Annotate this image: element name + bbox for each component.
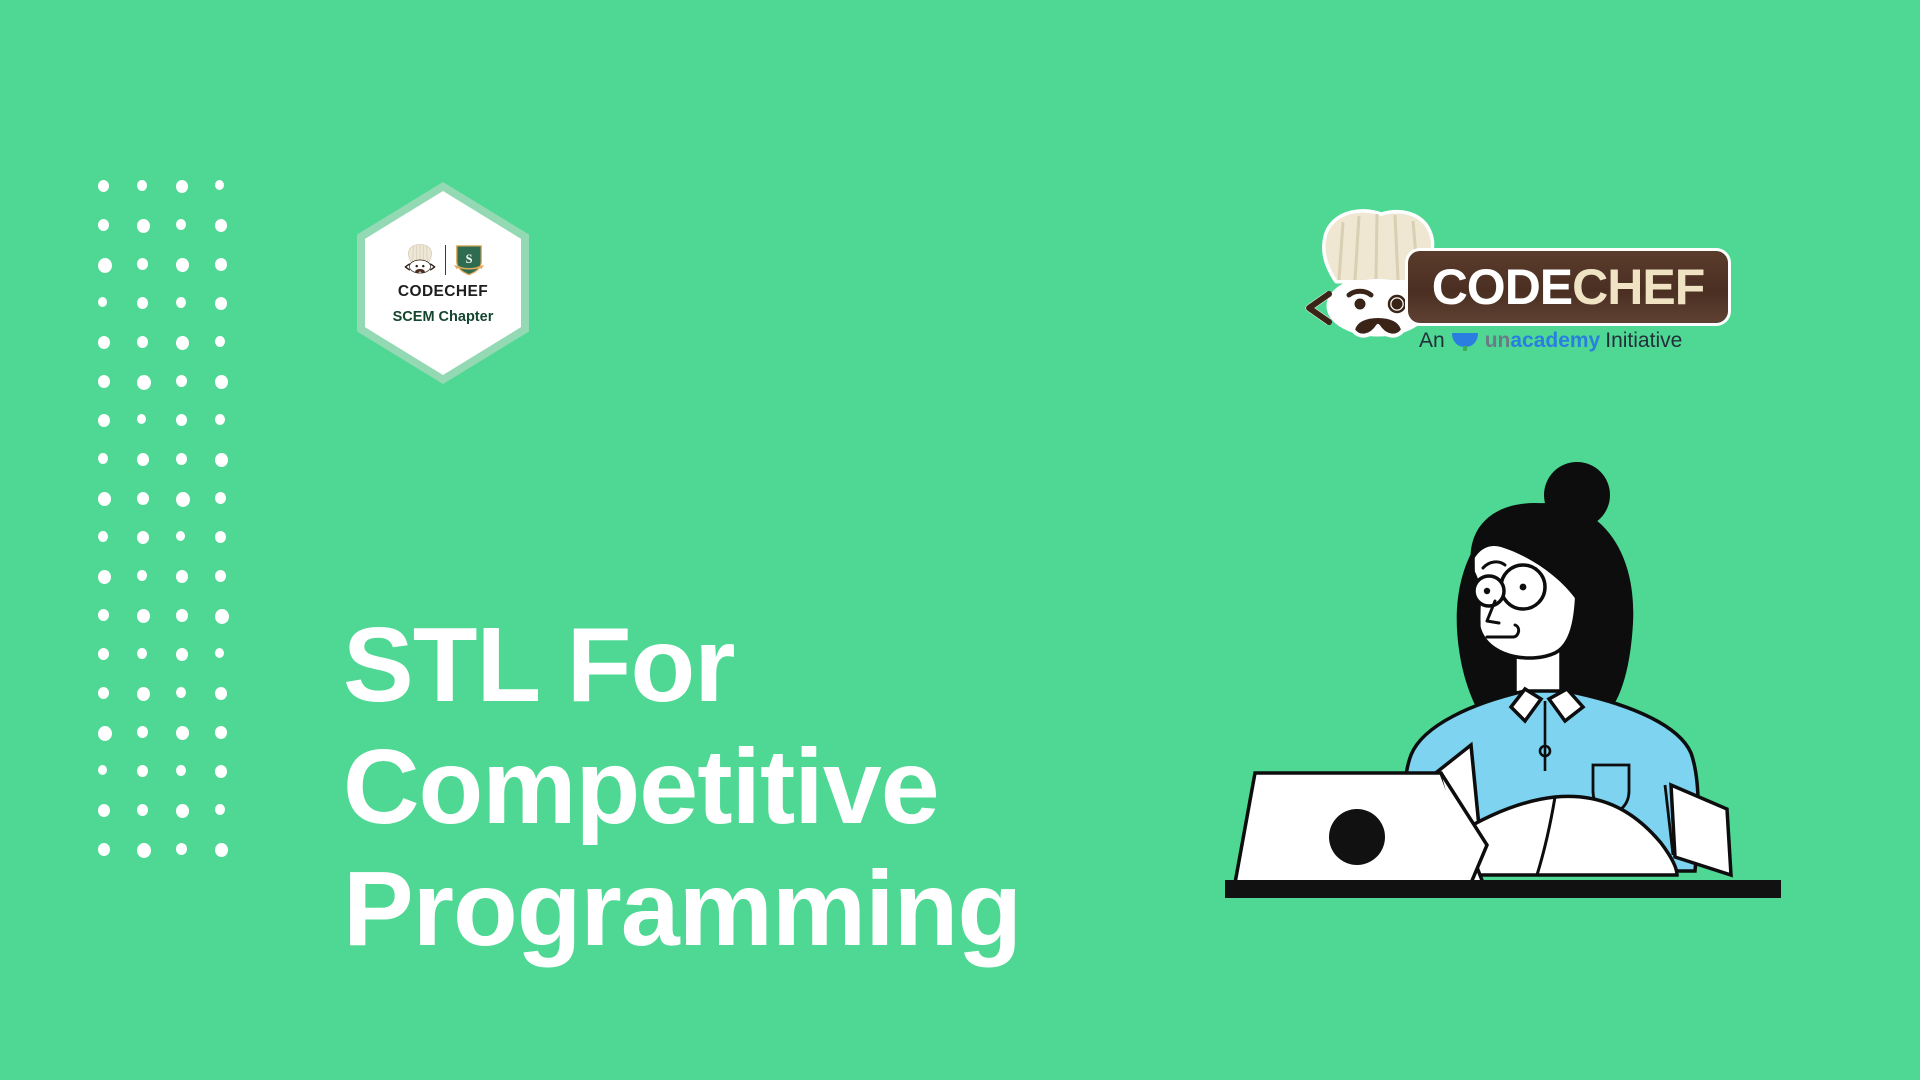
- title-line-3: Programming: [343, 848, 1163, 970]
- decorative-dot: [215, 219, 227, 232]
- decorative-dot: [215, 375, 228, 389]
- decorative-dot: [98, 336, 110, 349]
- woman-coding-at-laptop-illustration: [1225, 455, 1795, 905]
- decorative-dot: [176, 375, 187, 387]
- decorative-dot: [98, 453, 108, 464]
- decorative-dot: [98, 297, 107, 307]
- badge-org-name: CODECHEF: [398, 284, 488, 300]
- title-line-2: Competitive: [343, 726, 1163, 848]
- decorative-dot: [137, 804, 148, 816]
- decorative-dot: [137, 843, 151, 858]
- decorative-dot: [137, 180, 147, 191]
- decorative-dot: [215, 453, 228, 467]
- decorative-dot: [98, 687, 109, 699]
- decorative-dot: [98, 609, 109, 621]
- decorative-dot: [215, 336, 225, 347]
- decorative-dot: [98, 531, 108, 542]
- decorative-dot: [176, 804, 189, 818]
- tagline-brand-accent: academy: [1510, 329, 1600, 352]
- decorative-dot: [98, 492, 111, 506]
- decorative-dot: [98, 375, 110, 388]
- decorative-dot: [98, 570, 111, 584]
- decorative-dot: [98, 765, 107, 775]
- decorative-dot: [98, 219, 109, 231]
- decorative-dot: [215, 297, 227, 310]
- decorative-dot: [137, 414, 146, 424]
- decorative-dot: [176, 726, 189, 740]
- decorative-dot: [215, 765, 227, 778]
- decorative-dot: [137, 609, 150, 623]
- decorative-dot: [98, 843, 110, 856]
- unacademy-bowl-icon: [1450, 328, 1480, 352]
- decorative-dot: [98, 804, 110, 817]
- decorative-dot: [215, 258, 227, 271]
- decorative-dot: [137, 648, 147, 659]
- decorative-dot: [215, 726, 227, 739]
- badge-chapter-name: SCEM Chapter: [393, 310, 494, 325]
- tagline-brand-light: un: [1485, 329, 1511, 352]
- shield-letter: S: [465, 252, 472, 266]
- badge-content: S CODECHEF SCEM Chapter: [357, 182, 529, 384]
- decorative-dot: [176, 765, 186, 776]
- decorative-dot: [137, 219, 150, 233]
- decorative-dot: [176, 414, 187, 426]
- codechef-word-chef: CHEF: [1572, 259, 1704, 315]
- decorative-dot: [176, 570, 188, 583]
- codechef-word-code: CODE: [1432, 259, 1572, 315]
- decorative-dot: [137, 297, 148, 309]
- decorative-dot: [98, 180, 109, 192]
- decorative-dot: [215, 648, 224, 658]
- decorative-dot: [176, 531, 185, 541]
- scem-shield-icon: S: [453, 243, 485, 277]
- decorative-dot: [176, 453, 187, 465]
- decorative-dot: [176, 258, 189, 272]
- decorative-dot: [137, 726, 148, 738]
- decorative-dot: [137, 336, 148, 348]
- decorative-dot: [176, 297, 186, 308]
- pupil-right: [1520, 584, 1527, 591]
- laptop-logo: [1329, 809, 1385, 865]
- decorative-dot: [176, 648, 188, 661]
- decorative-dot: [215, 687, 227, 700]
- decorative-dot: [176, 336, 189, 350]
- title-line-1: STL For: [343, 604, 1163, 726]
- decorative-dot: [176, 492, 190, 507]
- pupil-left: [1484, 588, 1490, 594]
- decorative-dot: [215, 180, 224, 190]
- decorative-dot: [137, 570, 147, 581]
- decorative-dot: [137, 687, 150, 701]
- decorative-dot: [98, 414, 110, 427]
- decorative-dot: [137, 453, 149, 466]
- unacademy-tagline: An unacademy Initiative: [1419, 328, 1729, 352]
- codechef-scem-chapter-badge: S CODECHEF SCEM Chapter: [357, 182, 529, 384]
- decorative-dot: [137, 375, 151, 390]
- decorative-dot-grid: [98, 180, 243, 895]
- decorative-dot: [137, 765, 148, 777]
- desk-surface: [1225, 880, 1781, 898]
- decorative-dot: [176, 609, 188, 622]
- page-title: STL For Competitive Programming: [343, 604, 1163, 970]
- decorative-dot: [215, 609, 229, 624]
- decorative-dot: [215, 492, 226, 504]
- decorative-dot: [137, 258, 148, 270]
- decorative-dot: [215, 570, 226, 582]
- chef-hat-mascot-icon: [402, 242, 438, 278]
- decorative-dot: [215, 414, 225, 425]
- tagline-prefix: An: [1419, 330, 1445, 351]
- decorative-dot: [176, 843, 187, 855]
- decorative-dot: [98, 648, 109, 660]
- decorative-dot: [176, 219, 186, 230]
- decorative-dot: [215, 843, 228, 857]
- badge-marks: S: [402, 242, 485, 278]
- tagline-suffix: Initiative: [1605, 330, 1682, 351]
- decorative-dot: [176, 180, 188, 193]
- decorative-dot: [98, 258, 112, 273]
- decorative-dot: [137, 492, 149, 505]
- slide-canvas: S CODECHEF SCEM Chapter: [0, 0, 1920, 1080]
- decorative-dot: [215, 531, 226, 543]
- codechef-wordmark-plate: CODECHEF: [1408, 251, 1728, 323]
- codechef-logo: CODECHEF An unacademy Initiative: [1303, 196, 1723, 366]
- badge-divider: [445, 245, 446, 275]
- decorative-dot: [176, 687, 186, 698]
- decorative-dot: [215, 804, 225, 815]
- decorative-dot: [137, 531, 149, 544]
- decorative-dot: [98, 726, 112, 741]
